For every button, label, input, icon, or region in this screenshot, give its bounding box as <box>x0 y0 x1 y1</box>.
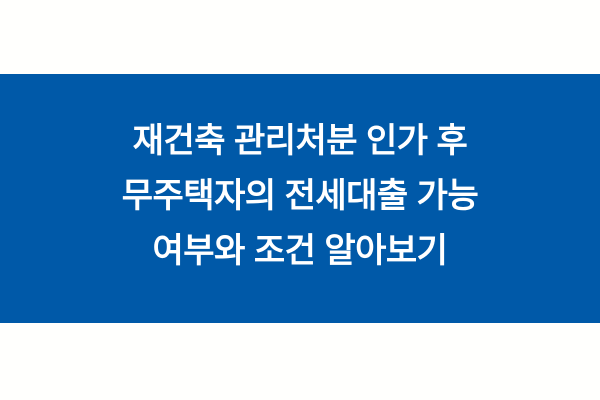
title-line-3: 여부와 조건 알아보기 <box>122 224 478 279</box>
title-line-2: 무주택자의 전세대출 가능 <box>122 169 478 224</box>
title-line-1: 재건축 관리처분 인가 후 <box>122 114 478 169</box>
top-margin-band <box>0 0 600 74</box>
page-title: 재건축 관리처분 인가 후 무주택자의 전세대출 가능 여부와 조건 알아보기 <box>122 114 478 279</box>
title-card-canvas: 재건축 관리처분 인가 후 무주택자의 전세대출 가능 여부와 조건 알아보기 <box>0 0 600 400</box>
bottom-margin-band <box>0 323 600 400</box>
blue-banner: 재건축 관리처분 인가 후 무주택자의 전세대출 가능 여부와 조건 알아보기 <box>0 74 600 323</box>
